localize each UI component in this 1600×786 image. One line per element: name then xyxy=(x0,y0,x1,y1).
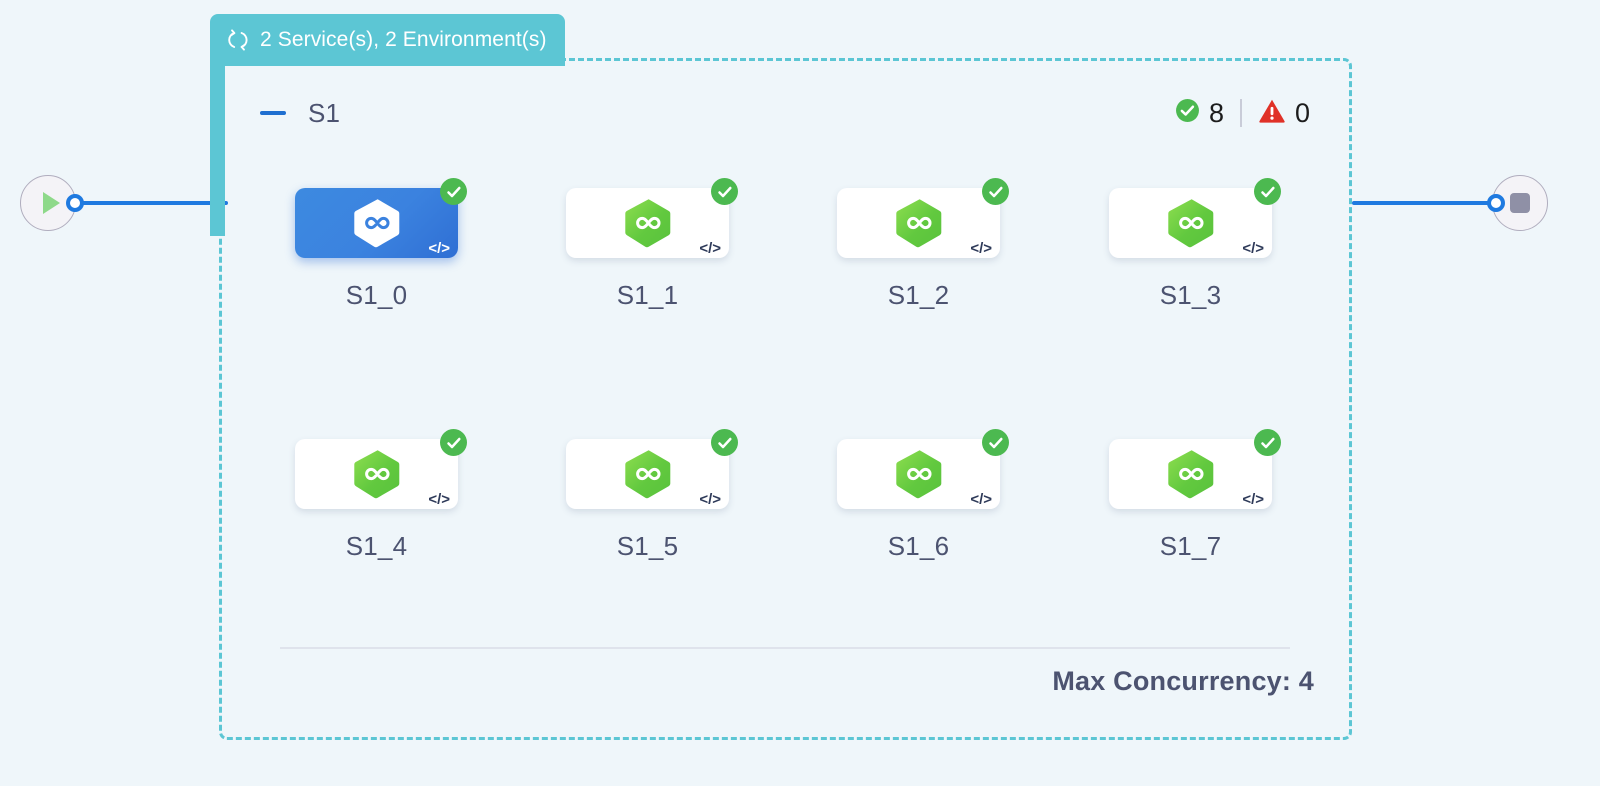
group-tab[interactable]: 2 Service(s), 2 Environment(s) xyxy=(210,14,565,66)
node-s1_2[interactable]: </>S1_2 xyxy=(837,188,1000,311)
node-s1_4[interactable]: </>S1_4 xyxy=(295,439,458,562)
group-tab-label: 2 Service(s), 2 Environment(s) xyxy=(260,28,547,52)
group-status-counts: 8 0 xyxy=(1175,98,1310,129)
node-card[interactable]: </> xyxy=(566,439,729,509)
node-card[interactable]: </> xyxy=(295,188,458,258)
check-circle-icon xyxy=(982,429,1009,456)
node-card[interactable]: </> xyxy=(837,188,1000,258)
node-label: S1_2 xyxy=(837,280,1000,311)
hexagon-loop-icon xyxy=(1168,198,1214,248)
error-count: 0 xyxy=(1295,98,1310,129)
hexagon-loop-icon xyxy=(354,449,400,499)
code-glyph-icon[interactable]: </> xyxy=(1242,241,1264,256)
code-glyph-icon[interactable]: </> xyxy=(970,241,992,256)
node-s1_1[interactable]: </>S1_1 xyxy=(566,188,729,311)
check-circle-icon xyxy=(982,178,1009,205)
node-label: S1_3 xyxy=(1109,280,1272,311)
node-label: S1_7 xyxy=(1109,531,1272,562)
node-s1_5[interactable]: </>S1_5 xyxy=(566,439,729,562)
error-count-group: 0 xyxy=(1258,98,1310,129)
start-node-output-handle[interactable] xyxy=(66,194,84,212)
status-divider xyxy=(1240,99,1242,127)
check-circle-icon xyxy=(440,178,467,205)
code-glyph-icon[interactable]: </> xyxy=(428,492,450,507)
group-title: S1 xyxy=(308,98,340,129)
check-circle-icon xyxy=(1254,178,1281,205)
node-label: S1_1 xyxy=(566,280,729,311)
node-s1_0[interactable]: </>S1_0 xyxy=(295,188,458,311)
hexagon-loop-icon xyxy=(625,198,671,248)
node-s1_3[interactable]: </>S1_3 xyxy=(1109,188,1272,311)
node-s1_7[interactable]: </>S1_7 xyxy=(1109,439,1272,562)
code-glyph-icon[interactable]: </> xyxy=(699,241,721,256)
hexagon-loop-icon xyxy=(1168,449,1214,499)
code-glyph-icon[interactable]: </> xyxy=(428,241,450,256)
check-circle-icon xyxy=(1175,98,1200,128)
group-header: S1 8 xyxy=(260,92,1310,134)
warning-triangle-icon xyxy=(1258,98,1286,129)
group-accent-spine xyxy=(210,62,225,236)
code-glyph-icon[interactable]: </> xyxy=(1242,492,1264,507)
code-glyph-icon[interactable]: </> xyxy=(970,492,992,507)
node-label: S1_6 xyxy=(837,531,1000,562)
stop-square-icon xyxy=(1510,193,1530,213)
node-card[interactable]: </> xyxy=(1109,188,1272,258)
hexagon-loop-icon xyxy=(354,198,400,248)
code-glyph-icon[interactable]: </> xyxy=(699,492,721,507)
group-footer-divider xyxy=(280,647,1290,649)
node-label: S1_0 xyxy=(295,280,458,311)
success-count: 8 xyxy=(1209,98,1224,129)
node-card[interactable]: </> xyxy=(1109,439,1272,509)
edge-start-to-group[interactable] xyxy=(78,201,228,205)
end-node-input-handle[interactable] xyxy=(1487,194,1505,212)
success-count-group: 8 xyxy=(1175,98,1224,129)
node-label: S1_4 xyxy=(295,531,458,562)
check-circle-icon xyxy=(711,429,738,456)
check-circle-icon xyxy=(1254,429,1281,456)
check-circle-icon xyxy=(440,429,467,456)
node-card[interactable]: </> xyxy=(295,439,458,509)
refresh-loop-icon xyxy=(226,28,250,52)
check-circle-icon xyxy=(711,178,738,205)
minus-collapse-icon[interactable] xyxy=(260,111,286,115)
node-card[interactable]: </> xyxy=(837,439,1000,509)
hexagon-loop-icon xyxy=(625,449,671,499)
hexagon-loop-icon xyxy=(896,198,942,248)
play-icon xyxy=(43,192,60,214)
node-s1_6[interactable]: </>S1_6 xyxy=(837,439,1000,562)
node-label: S1_5 xyxy=(566,531,729,562)
max-concurrency-label: Max Concurrency: 4 xyxy=(1052,666,1314,697)
workflow-canvas[interactable]: 2 Service(s), 2 Environment(s) S1 8 xyxy=(0,0,1600,786)
group-container[interactable] xyxy=(219,58,1352,740)
edge-group-to-end[interactable] xyxy=(1352,201,1498,205)
hexagon-loop-icon xyxy=(896,449,942,499)
node-card[interactable]: </> xyxy=(566,188,729,258)
